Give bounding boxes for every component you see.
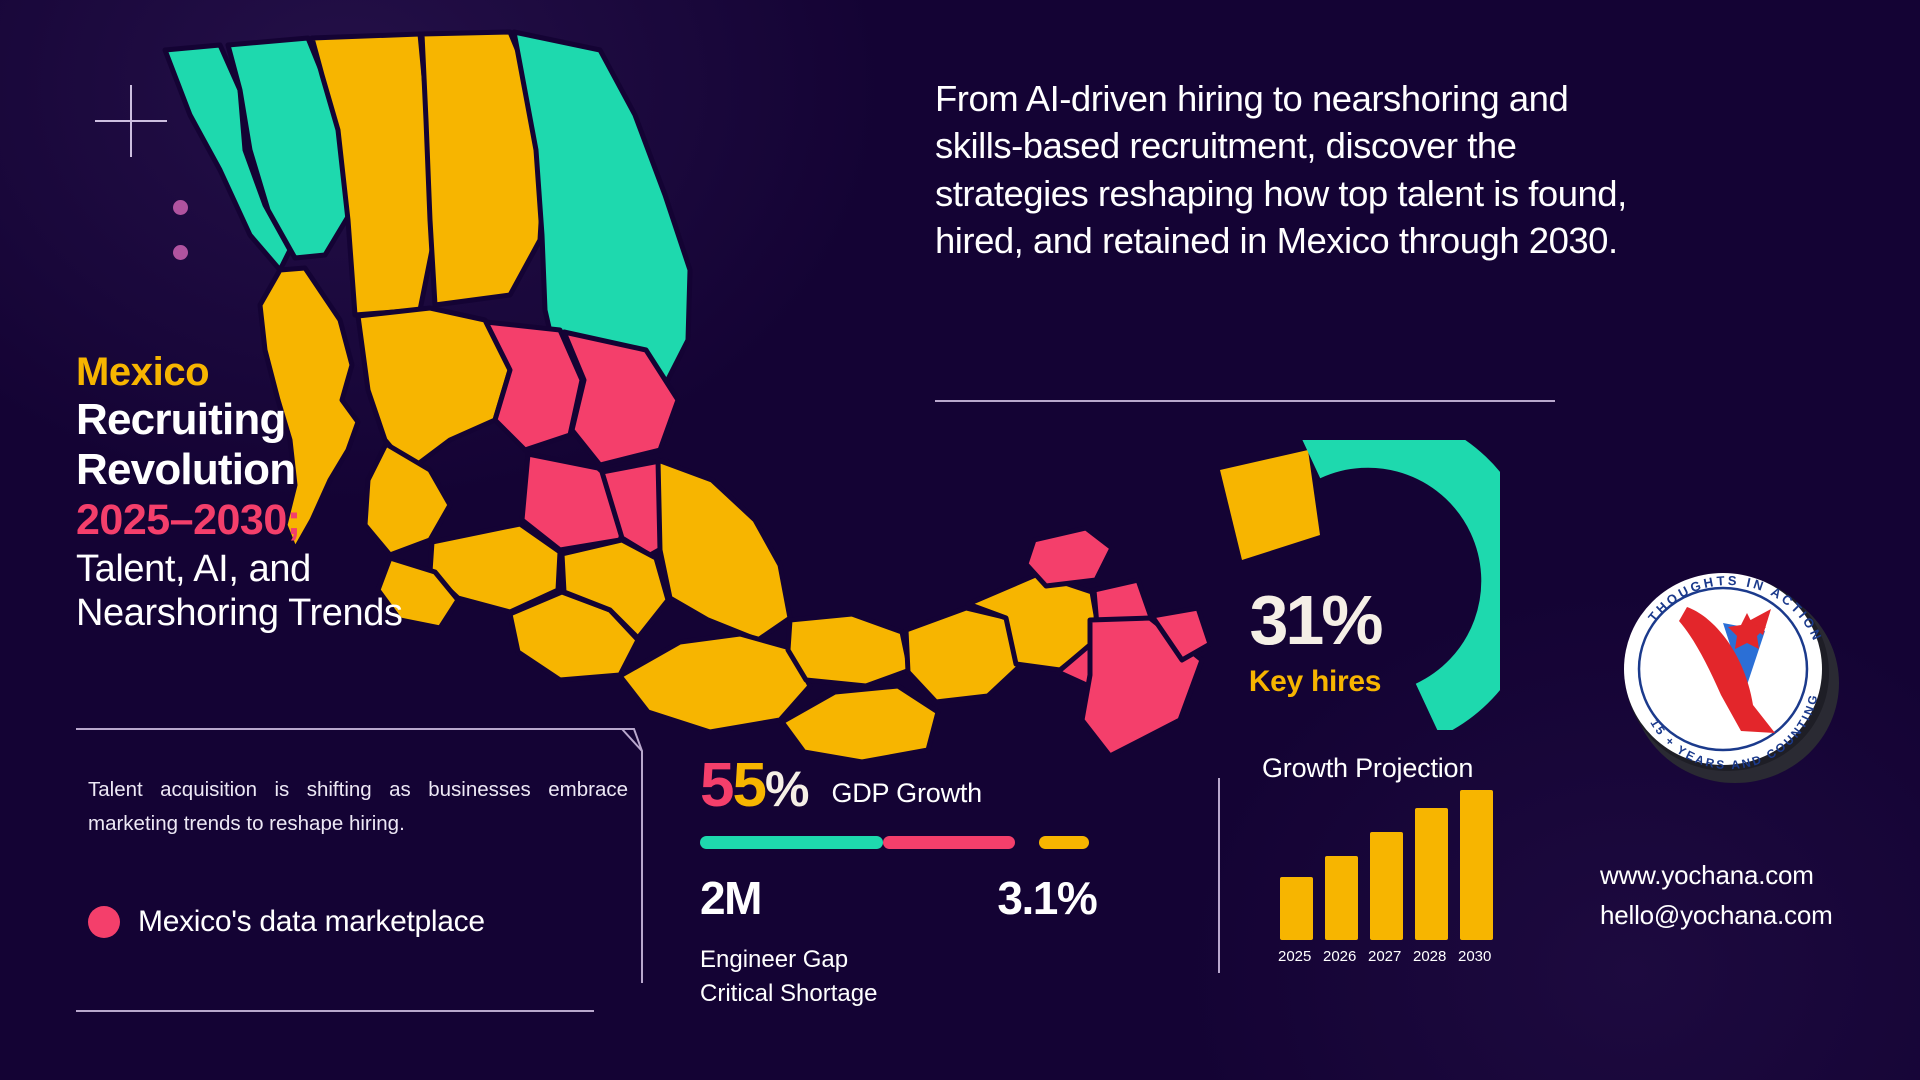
legend-dot-icon: [88, 906, 120, 938]
secondary-stat-value: 3.1%: [997, 875, 1096, 921]
chart-bar: [1370, 832, 1403, 940]
intro-block: From AI-driven hiring to nearshoring and…: [935, 75, 1640, 265]
chart-bar: [1415, 808, 1448, 940]
engineer-gap-value: 2M: [700, 875, 877, 921]
chart-year-label: 2027: [1368, 948, 1401, 965]
summary-card: Talent acquisition is shifting as busine…: [74, 725, 644, 1015]
donut-caption: Key hires: [1205, 665, 1425, 699]
contact-block: www.yochana.com hello@yochana.com: [1600, 855, 1833, 936]
website-link[interactable]: www.yochana.com: [1600, 855, 1833, 895]
company-badge-logo: THOUGHTS IN ACTION 15 + YEARS AND COUNTI…: [1595, 545, 1860, 795]
infographic-canvas: Mexico Recruiting Revolution 2025–2030; …: [0, 0, 1920, 1080]
chart-year-label: 2028: [1413, 948, 1446, 965]
headline-block: Mexico Recruiting Revolution 2025–2030; …: [76, 350, 636, 635]
secondary-stats-row: 2M Engineer Gap Critical Shortage 3.1%: [700, 875, 1220, 1011]
summary-paragraph: Talent acquisition is shifting as busine…: [88, 773, 628, 842]
progress-segment-pink: [883, 836, 1015, 849]
intro-divider: [935, 400, 1555, 402]
progress-bar: [700, 836, 1220, 849]
chart-bar: [1460, 790, 1493, 940]
chart-bar: [1280, 877, 1313, 940]
legend-item: Mexico's data marketplace: [88, 905, 485, 939]
engineer-gap-stat: 2M Engineer Gap Critical Shortage: [700, 875, 877, 1011]
headline-eyebrow: Mexico: [76, 350, 636, 395]
progress-segment-yellow: [1039, 836, 1089, 849]
chart-year-label: 2030: [1458, 948, 1491, 965]
headline-sub-2: Nearshoring Trends: [76, 591, 636, 635]
engineer-gap-subtitle: Engineer Gap Critical Shortage: [700, 943, 877, 1011]
gdp-row: 55% GDP Growth: [700, 755, 1220, 818]
chart-year-labels: 2025 2026 2027 2028 2030: [1278, 948, 1518, 965]
chart-bars: [1280, 790, 1515, 940]
headline-line-2: Revolution: [76, 445, 636, 495]
headline-years: 2025–2030;: [76, 495, 636, 547]
donut-value: 31%: [1205, 585, 1425, 655]
headline-line-1: Recruiting: [76, 395, 636, 445]
chart-title: Growth Projection: [1262, 753, 1473, 784]
gdp-value: 55%: [700, 755, 809, 818]
headline-sub-1: Talent, AI, and: [76, 547, 636, 591]
secondary-stat: 3.1%: [997, 875, 1096, 1011]
chart-divider: [1218, 778, 1220, 973]
engineer-gap-sub-1: Engineer Gap: [700, 946, 848, 973]
engineer-gap-sub-2: Critical Shortage: [700, 980, 877, 1007]
gdp-label: GDP Growth: [831, 778, 982, 818]
chart-year-label: 2026: [1323, 948, 1356, 965]
chart-year-label: 2025: [1278, 948, 1311, 965]
progress-segment-teal: [700, 836, 883, 849]
progress-segment-gap: [1015, 836, 1039, 849]
email-link[interactable]: hello@yochana.com: [1600, 895, 1833, 935]
legend-label: Mexico's data marketplace: [138, 905, 485, 939]
intro-paragraph: From AI-driven hiring to nearshoring and…: [935, 75, 1640, 265]
chart-bar: [1325, 856, 1358, 940]
stats-block: 55% GDP Growth 2M Engineer Gap Critical …: [700, 755, 1220, 1011]
card-frame-icon: [74, 725, 644, 1015]
